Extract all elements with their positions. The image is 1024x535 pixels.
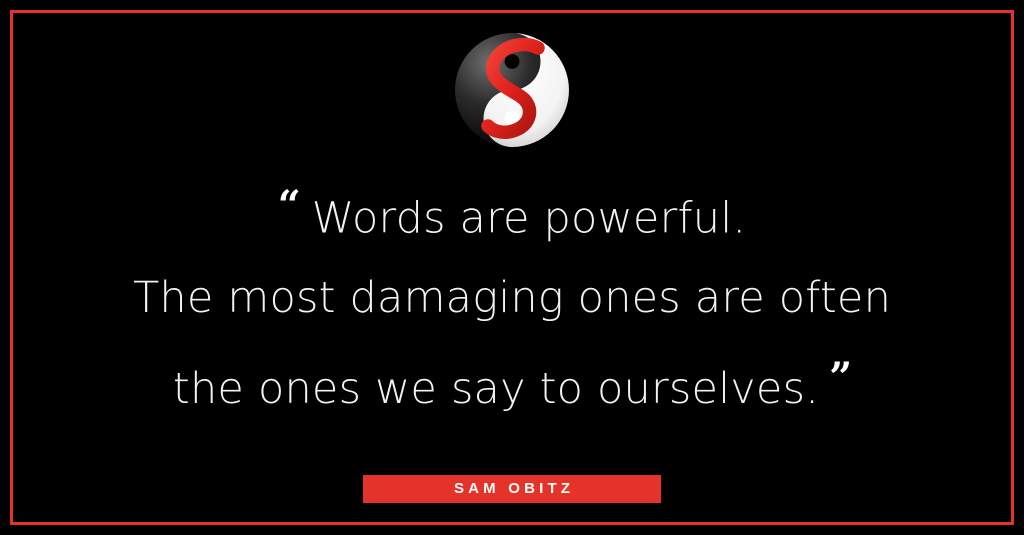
quote-line-3-text: the ones we say to ourselves. [173, 364, 819, 414]
yin-dot [505, 54, 520, 69]
card-content: “Words are powerful. The most damaging o… [0, 0, 1024, 535]
quote-line-3: the ones we say to ourselves.” [32, 338, 992, 429]
author-name: SAM OBITZ [450, 480, 574, 497]
quote-line-1-text: Words are powerful. [312, 194, 747, 244]
quote-card: “Words are powerful. The most damaging o… [0, 0, 1024, 535]
quote-line-1: “Words are powerful. [32, 166, 992, 259]
quote-line-2: The most damaging ones are often [32, 259, 992, 338]
brand-logo [450, 28, 574, 152]
close-quote-icon: ” [829, 354, 851, 401]
open-quote-icon: “ [278, 182, 300, 229]
author-banner: SAM OBITZ [363, 475, 661, 503]
quote-block: “Words are powerful. The most damaging o… [32, 166, 992, 429]
